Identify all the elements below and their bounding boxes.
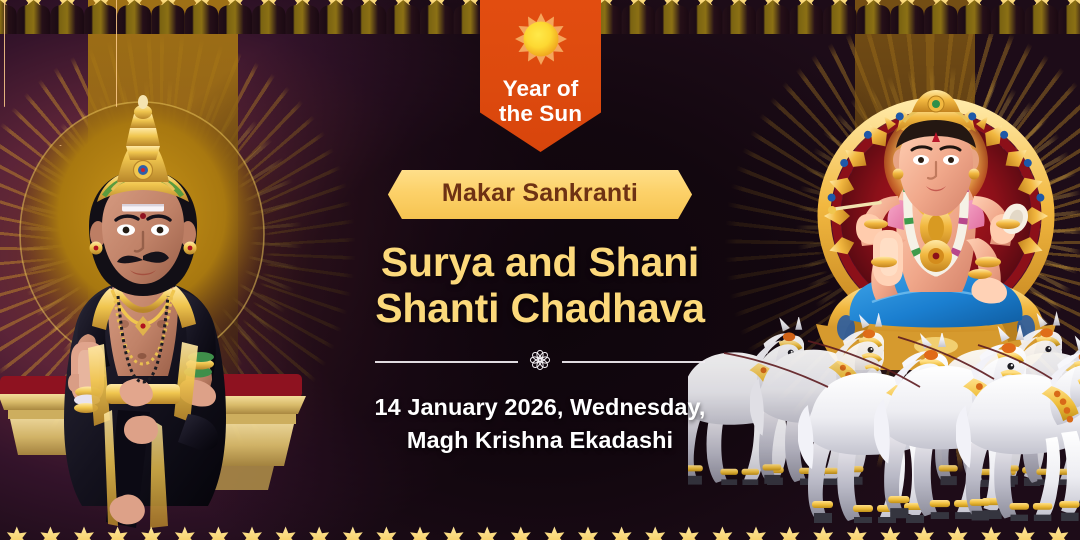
divider-line-right [562, 361, 705, 363]
ornamental-divider [280, 349, 800, 376]
banner-text: Year of the Sun [480, 76, 601, 126]
sun-icon [480, 12, 601, 70]
date-line-2: Magh Krishna Ekadashi [280, 424, 800, 457]
banner-line-1: Year of [480, 76, 601, 101]
makar-sankranti-banner: Year of the Sun Makar Sankranti Surya an… [0, 0, 1080, 540]
festival-name-pill: Makar Sankranti [388, 170, 692, 219]
event-date: 14 January 2026, Wednesday, Magh Krishna… [280, 391, 800, 458]
title-line-1: Surya and Shani [280, 239, 800, 285]
date-line-1: 14 January 2026, Wednesday, [280, 391, 800, 424]
page-title: Surya and Shani Shanti Chadhava [280, 239, 800, 332]
banner-line-2: the Sun [480, 101, 601, 126]
divider-line-left [375, 361, 518, 363]
flower-rosette-icon [529, 349, 551, 376]
center-content: Makar Sankranti Surya and Shani Shanti C… [280, 170, 800, 457]
title-line-2: Shanti Chadhava [280, 285, 800, 331]
